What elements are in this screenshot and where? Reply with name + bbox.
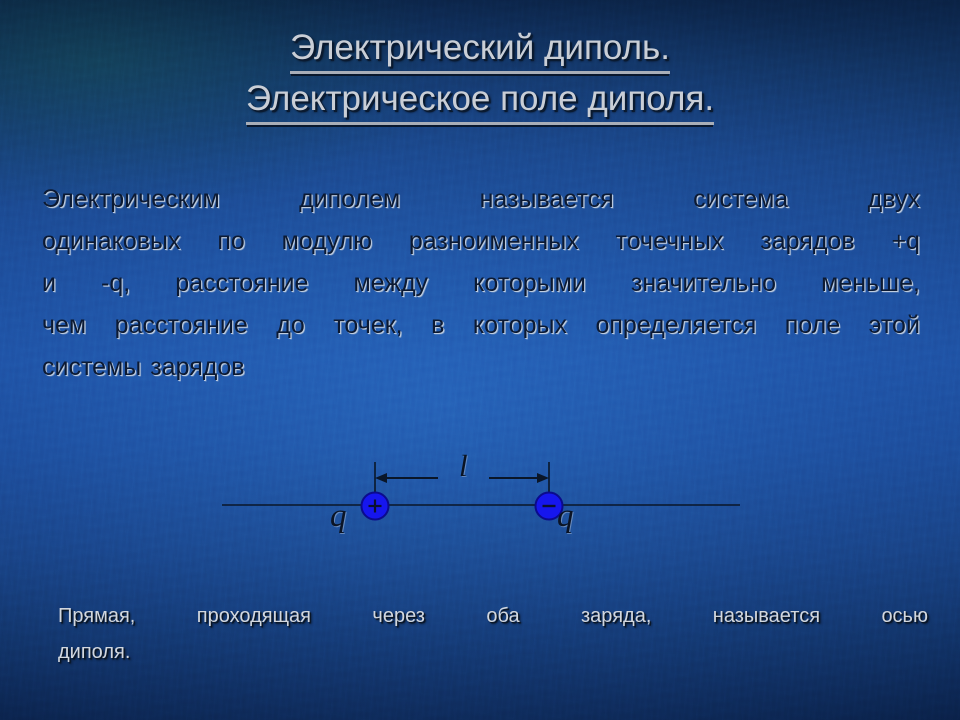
title-line-2: Электрическое поле диполя.: [0, 73, 960, 124]
body-word: до: [276, 304, 305, 346]
dipole-diagram: l q q: [0, 440, 960, 560]
body-word: определяется: [595, 304, 756, 346]
body-word: расстояние: [115, 304, 248, 346]
body-word: меньше,: [821, 262, 920, 304]
dipole-length-label: l: [459, 448, 468, 484]
body-word: зарядов: [760, 220, 854, 262]
body-word: называется: [480, 178, 614, 220]
body-word: чем: [42, 304, 86, 346]
note-word: заряда,: [581, 598, 651, 634]
body-word: модулю: [282, 220, 372, 262]
body-word: этой: [869, 304, 920, 346]
body-word: +q: [891, 220, 920, 262]
body-line-2: одинаковых по модулю разноименных точечн…: [42, 220, 920, 262]
body-word: разноименных: [409, 220, 579, 262]
body-word: по: [217, 220, 244, 262]
body-word: поле: [785, 304, 840, 346]
body-word: диполем: [299, 178, 400, 220]
body-line-3: и -q, расстояние между которыми значител…: [42, 262, 920, 304]
note-line-1: Прямая, проходящая через оба заряда, наз…: [58, 598, 928, 634]
body-word: расстояние: [175, 262, 308, 304]
body-word: которыми: [473, 262, 586, 304]
body-word: зарядов: [150, 346, 244, 388]
note-word: диполя.: [58, 634, 130, 670]
note-word: называется: [713, 598, 820, 634]
note-word: проходящая: [197, 598, 311, 634]
note-word: через: [372, 598, 425, 634]
body-word: точечных: [616, 220, 724, 262]
positive-charge-label: q: [330, 498, 347, 535]
dipole-diagram-svg: [0, 440, 960, 560]
negative-charge-label: q: [557, 498, 574, 535]
body-word: Электрическим: [42, 178, 220, 220]
body-word: одинаковых: [42, 220, 181, 262]
axis-note: Прямая, проходящая через оба заряда, наз…: [58, 598, 928, 670]
definition-paragraph: Электрическим диполем называется система…: [42, 178, 920, 388]
title-line-1-text: Электрический диполь.: [290, 28, 670, 74]
note-word: оба: [486, 598, 519, 634]
dimension-arrow-right-head: [537, 473, 549, 483]
body-word: двух: [868, 178, 920, 220]
note-word: осью: [881, 598, 928, 634]
body-line-5: системы зарядов: [42, 346, 920, 388]
body-word: системы: [42, 346, 141, 388]
dimension-arrow-left-head: [375, 473, 387, 483]
slide-title: Электрический диполь. Электрическое поле…: [0, 22, 960, 124]
body-line-4: чем расстояние до точек, в которых опред…: [42, 304, 920, 346]
presentation-slide: Электрический диполь. Электрическое поле…: [0, 0, 960, 720]
body-word: значительно: [631, 262, 776, 304]
body-word: в: [431, 304, 444, 346]
body-word: точек,: [333, 304, 402, 346]
note-line-2: диполя.: [58, 634, 928, 670]
note-word: Прямая,: [58, 598, 135, 634]
body-word: и: [42, 262, 56, 304]
body-word: система: [693, 178, 788, 220]
title-line-2-text: Электрическое поле диполя.: [246, 79, 714, 125]
body-word: -q,: [101, 262, 130, 304]
body-word: между: [353, 262, 428, 304]
body-line-1: Электрическим диполем называется система…: [42, 178, 920, 220]
title-line-1: Электрический диполь.: [0, 22, 960, 73]
body-word: которых: [473, 304, 567, 346]
